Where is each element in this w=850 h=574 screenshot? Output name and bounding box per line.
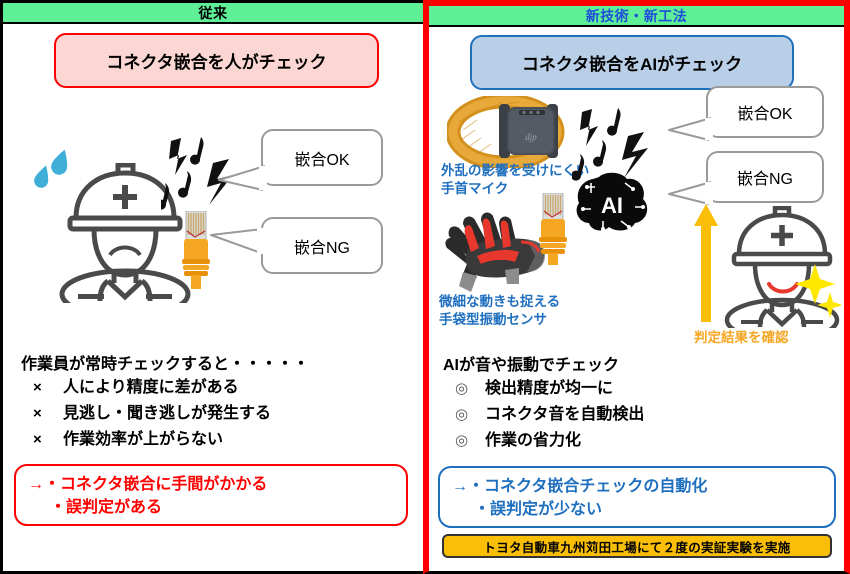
bullet-text: 作業効率が上がらない [63, 425, 223, 449]
up-arrow-icon [693, 204, 719, 322]
conclusion-line: ・誤判定がある [28, 496, 406, 519]
bubble-ng-tail [207, 225, 265, 255]
bubble-ok: 嵌合OK [261, 129, 383, 186]
list-item: × 見逃し・聞き逃しが発生する [21, 399, 271, 423]
caption-line: 手袋型振動センサ [439, 311, 560, 329]
pilot-banner: トヨタ自動車九州苅田工場にて２度の実証実験を実施 [442, 534, 832, 558]
panel-left-header: 従来 [3, 3, 423, 24]
bubble-ng-label: 嵌合NG [737, 165, 793, 189]
caption-line: 外乱の影響を受けにくい [441, 162, 589, 180]
bubble-ok-label: 嵌合OK [294, 146, 349, 170]
panel-new-technology: 新技術・新工法 コネクタ嵌合をAIがチェック [423, 0, 850, 574]
right-title-box: コネクタ嵌合をAIがチェック [470, 35, 794, 90]
comparison-slide: 従来 コネクタ嵌合を人がチェック [0, 0, 850, 574]
conclusion-line: →・コネクタ嵌合に手間がかかる [28, 473, 406, 496]
bullet-mark: × [21, 431, 63, 448]
bubble-ok-tail [665, 116, 713, 142]
bullet-text: 人により精度に差がある [63, 373, 239, 397]
bullet-mark: × [21, 379, 63, 396]
bubble-ng: 嵌合NG [261, 217, 383, 274]
bubble-ok: 嵌合OK [706, 86, 824, 138]
bullet-mark: ◎ [443, 379, 485, 397]
conclusion-line: →・コネクタ嵌合チェックの自動化 [452, 475, 834, 498]
bullet-text: 見逃し・聞き逃しが発生する [63, 399, 271, 423]
bullet-text: コネクタ音を自動検出 [485, 400, 644, 424]
caption-line: 微細な動きも捉える [439, 293, 560, 311]
panel-right-header: 新技術・新工法 [429, 6, 844, 27]
bullet-text: 作業の省力化 [485, 426, 581, 450]
caption-glove: 微細な動きも捉える 手袋型振動センサ [439, 293, 560, 329]
bubble-ng: 嵌合NG [706, 151, 824, 203]
right-lead-text: AIが音や振動でチェック [443, 351, 619, 375]
conclusion-line: ・誤判定が少ない [452, 498, 834, 521]
right-conclusion-box: →・コネクタ嵌合チェックの自動化 ・誤判定が少ない [438, 466, 836, 528]
bullet-mark: ◎ [443, 405, 485, 423]
list-item: ◎ 作業の省力化 [443, 426, 644, 450]
bullet-text: 検出精度が均一に [485, 374, 613, 398]
list-item: ◎ 検出精度が均一に [443, 374, 644, 398]
svg-text:AI: AI [601, 193, 623, 218]
wrist-mic-photo: djp [447, 96, 575, 168]
right-bullet-list: ◎ 検出精度が均一に ◎ コネクタ音を自動検出 ◎ 作業の省力化 [443, 374, 644, 452]
panel-conventional: 従来 コネクタ嵌合を人がチェック [0, 0, 423, 574]
bubble-ng-tail [665, 180, 713, 206]
list-item: × 作業効率が上がらない [21, 425, 271, 449]
ai-brain-icon: AI [573, 169, 651, 235]
left-title-box: コネクタ嵌合を人がチェック [54, 33, 379, 88]
bullet-mark: × [21, 405, 63, 422]
bullet-mark: ◎ [443, 431, 485, 449]
left-lead-text: 作業員が常時チェックすると・・・・・ [21, 350, 309, 374]
caption-confirm-result: 判定結果を確認 [694, 326, 789, 346]
list-item: ◎ コネクタ音を自動検出 [443, 400, 644, 424]
bubble-ok-label: 嵌合OK [737, 100, 792, 124]
list-item: × 人により精度に差がある [21, 373, 271, 397]
happy-worker-icon [723, 206, 841, 328]
left-bullet-list: × 人により精度に差がある × 見逃し・聞き逃しが発生する × 作業効率が上がら… [21, 373, 271, 451]
lan-connector-icon [537, 193, 569, 265]
bubble-ng-label: 嵌合NG [294, 234, 350, 258]
svg-text:djp: djp [525, 132, 537, 142]
bubble-ok-tail [215, 164, 267, 192]
left-conclusion-box: →・コネクタ嵌合に手間がかかる ・誤判定がある [14, 464, 408, 526]
